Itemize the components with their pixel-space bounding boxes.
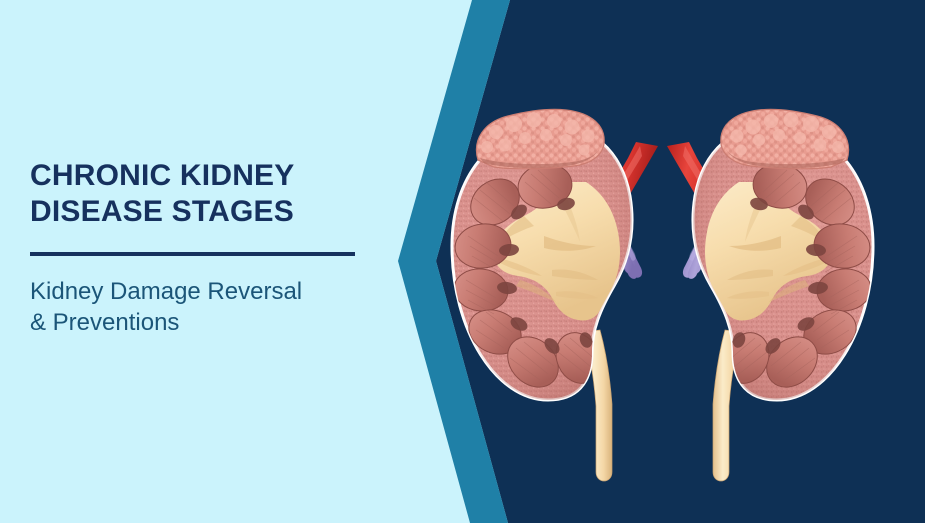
headline-line-2: DISEASE STAGES (30, 194, 370, 230)
title-divider-rule (30, 252, 355, 256)
headline-line-1: CHRONIC KIDNEY (30, 158, 370, 194)
right-kidney (667, 109, 873, 481)
left-kidney (452, 109, 658, 481)
subtitle-line-1: Kidney Damage Reversal (30, 276, 370, 307)
page-title: CHRONIC KIDNEY DISEASE STAGES (30, 158, 370, 230)
kidney-disease-banner: CHRONIC KIDNEY DISEASE STAGES Kidney Dam… (0, 0, 925, 523)
subtitle-line-2: & Preventions (30, 307, 370, 338)
page-subtitle: Kidney Damage Reversal & Preventions (30, 276, 370, 338)
headline-block: CHRONIC KIDNEY DISEASE STAGES Kidney Dam… (30, 158, 370, 338)
